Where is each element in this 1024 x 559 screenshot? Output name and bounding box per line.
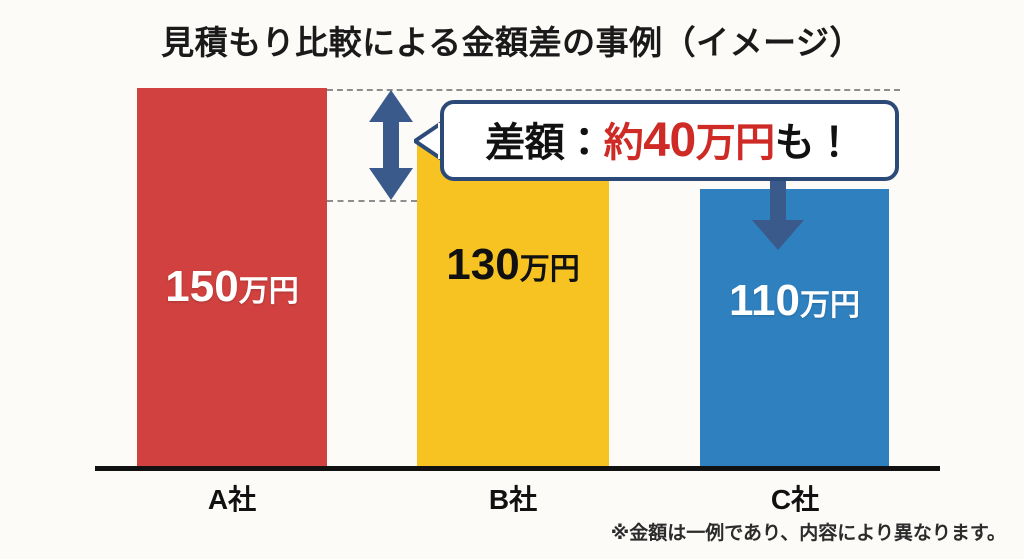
x-axis-label-company-b: B社 [413, 478, 613, 518]
bar-value-unit-b: 万円 [520, 253, 580, 286]
chart-figure: 見積もり比較による金額差の事例（イメージ） 150万円 130万円 110万円 [0, 0, 1024, 559]
bar-value-label-a: 150万円 [137, 265, 327, 309]
bar-value-unit-a: 万円 [239, 275, 299, 308]
x-axis-label-company-a: A社 [132, 478, 332, 518]
bar-company-b: 130万円 [417, 138, 609, 466]
callout-prefix: 差額： [485, 121, 604, 165]
bar-value-label-b: 130万円 [417, 243, 609, 287]
bar-value-number-b: 130 [446, 240, 519, 289]
bar-value-number-a: 150 [165, 262, 238, 311]
callout-suffix: も！ [775, 121, 854, 165]
bar-company-a: 150万円 [137, 88, 327, 466]
x-axis-line [95, 466, 940, 471]
footnote-text: ※金額は一例であり、内容により異なります。 [611, 518, 1006, 545]
plot-area: 150万円 130万円 110万円 [0, 0, 1024, 559]
double-headed-vertical-arrow-icon [363, 88, 419, 202]
bar-value-number-c: 110 [729, 276, 800, 325]
difference-callout-text: 差額：約40万円も！ [485, 117, 853, 165]
difference-callout: 差額：約40万円も！ [440, 100, 899, 181]
down-arrow-to-company-c-icon [748, 178, 808, 252]
callout-emphasis-prefix: 約 [604, 121, 644, 165]
x-axis-label-company-c: C社 [695, 478, 895, 518]
callout-emphasis-suffix: 万円 [696, 121, 775, 165]
bar-value-unit-c: 万円 [800, 289, 860, 322]
bar-value-label-c: 110万円 [700, 279, 889, 323]
callout-emphasis-number: 40 [643, 114, 695, 167]
